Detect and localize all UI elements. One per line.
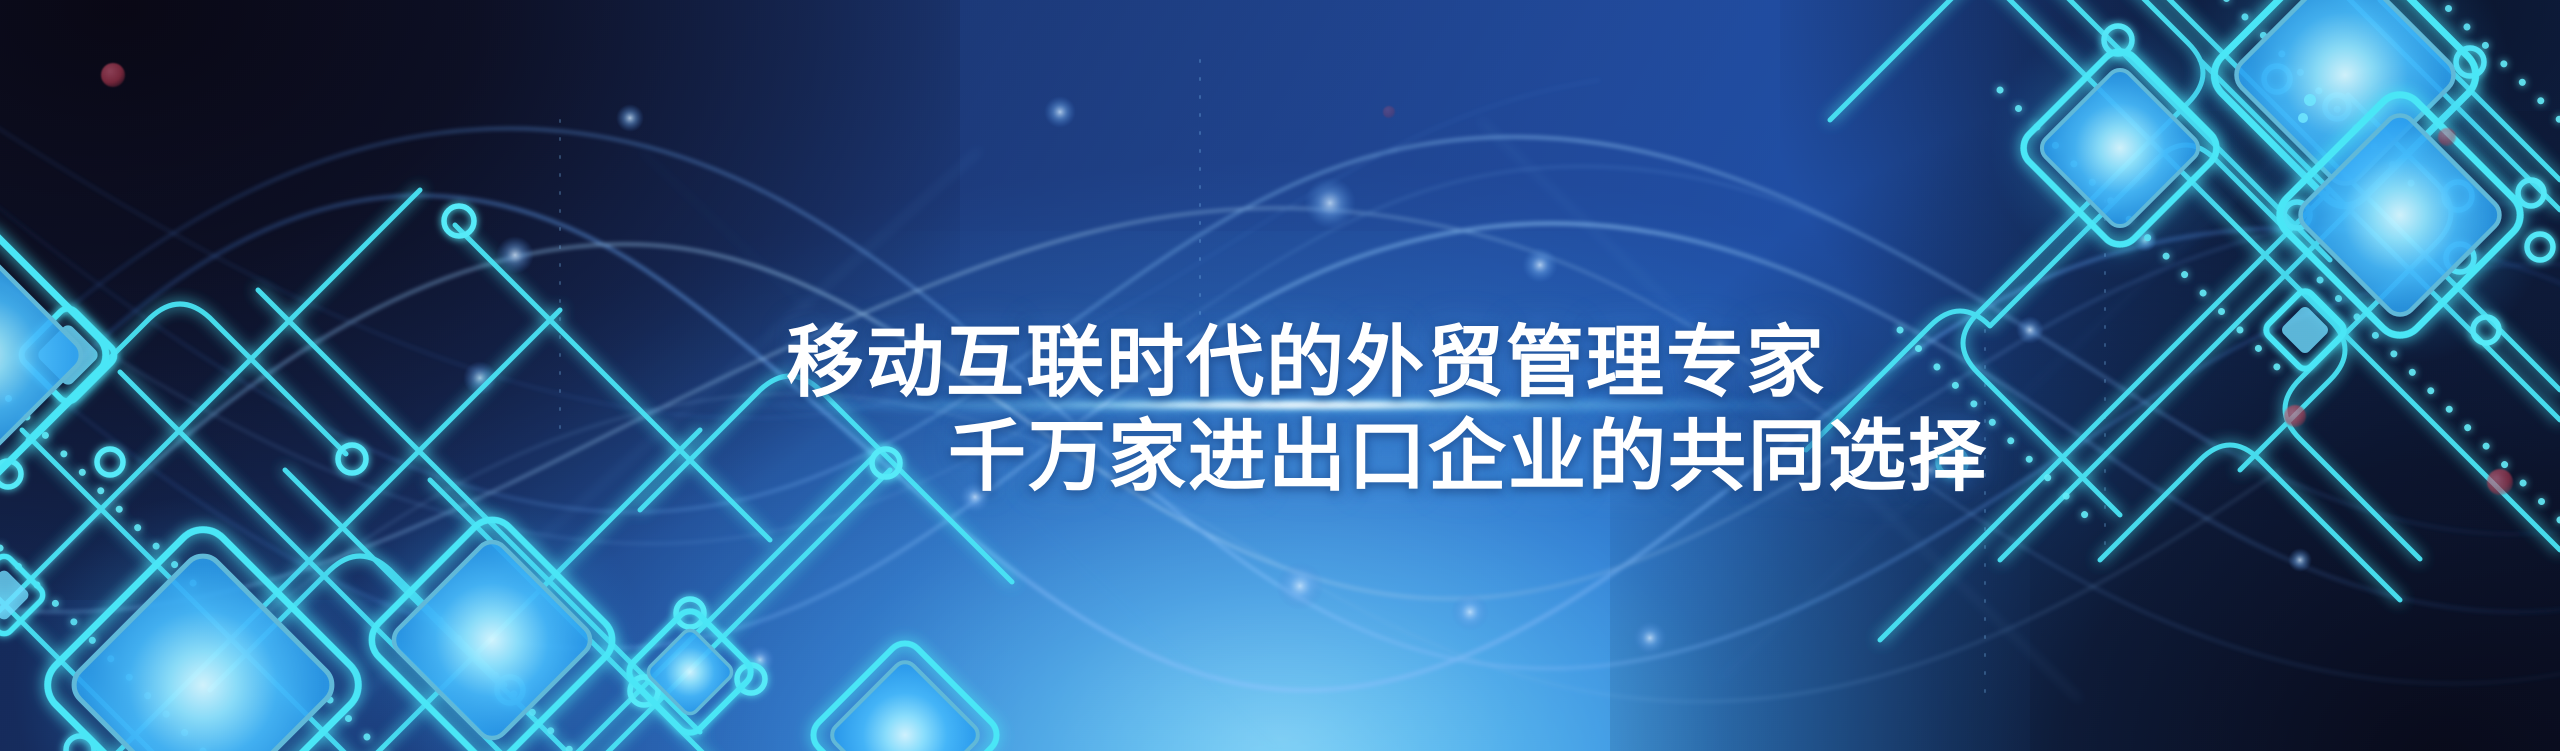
background-gradient	[0, 0, 2560, 751]
hero-banner: 移动互联时代的外贸管理专家 千万家进出口企业的共同选择	[0, 0, 2560, 751]
